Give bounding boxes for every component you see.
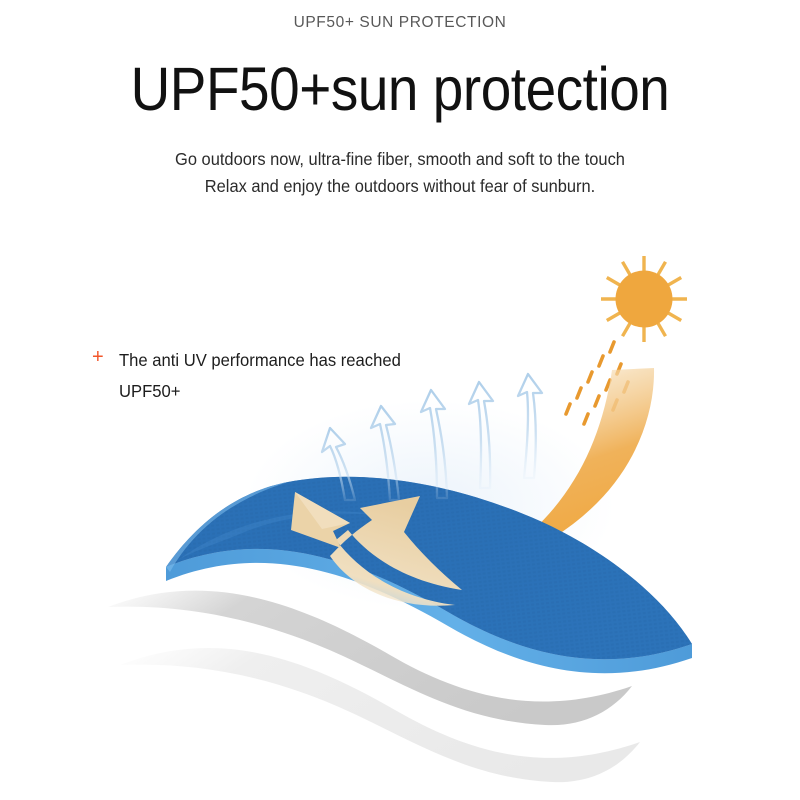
fabric-tip-highlight xyxy=(166,482,288,572)
subtitle: Go outdoors now, ultra-fine fiber, smoot… xyxy=(24,146,776,200)
uv-blocking-fabric xyxy=(166,477,692,660)
page-title: UPF50+sun protection xyxy=(40,54,760,124)
fabric-shadow-lower xyxy=(120,648,640,782)
sun-icon xyxy=(601,256,687,342)
feature-text-line-1: The anti UV performance has reached xyxy=(119,345,502,376)
reflected-uv-arrow xyxy=(291,492,462,606)
plus-bullet-icon: + xyxy=(92,346,104,368)
fabric-shadow-upper xyxy=(108,591,632,726)
feature-callout-text: The anti UV performance has reached UPF5… xyxy=(119,345,502,407)
feature-callout: + The anti UV performance has reached UP… xyxy=(92,345,522,407)
eyebrow-label: UPF50+ SUN PROTECTION xyxy=(0,14,800,32)
product-feature-banner: UPF50+ SUN PROTECTION UPF50+sun protecti… xyxy=(0,0,800,800)
fabric-edge xyxy=(166,549,692,673)
subtitle-line-2: Relax and enjoy the outdoors without fea… xyxy=(24,173,776,200)
soft-haze xyxy=(245,400,615,610)
uv-ray-dashes xyxy=(566,342,628,424)
feature-text-line-2: UPF50+ xyxy=(119,376,502,407)
subtitle-line-1: Go outdoors now, ultra-fine fiber, smoot… xyxy=(24,146,776,173)
